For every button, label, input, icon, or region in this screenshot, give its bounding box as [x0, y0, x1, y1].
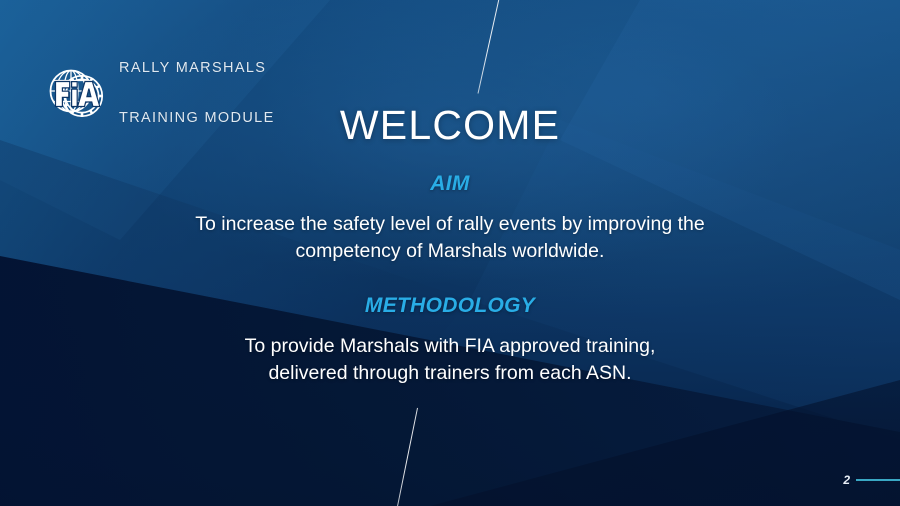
decorative-diagonal-line-top	[478, 0, 502, 94]
page-number: 2	[843, 474, 850, 486]
section-heading-methodology: METHODOLOGY	[0, 293, 900, 319]
body-line: competency of Marshals worldwide.	[0, 238, 900, 265]
presentation-slide: RALLY MARSHALS TRAINING MODULE WELCOME A…	[0, 0, 900, 506]
page-number-rule	[856, 479, 900, 480]
section-body-methodology: To provide Marshals with FIA approved tr…	[0, 333, 900, 387]
decorative-diagonal-line-bottom	[396, 408, 418, 506]
page-number-group: 2	[843, 474, 900, 486]
section-heading-aim: AIM	[0, 171, 900, 197]
body-line: delivered through trainers from each ASN…	[0, 360, 900, 387]
body-line: To provide Marshals with FIA approved tr…	[0, 333, 900, 360]
slide-title: WELCOME	[0, 101, 900, 149]
body-line: To increase the safety level of rally ev…	[0, 211, 900, 238]
section-body-aim: To increase the safety level of rally ev…	[0, 211, 900, 265]
logo-line-1: RALLY MARSHALS	[119, 60, 275, 77]
